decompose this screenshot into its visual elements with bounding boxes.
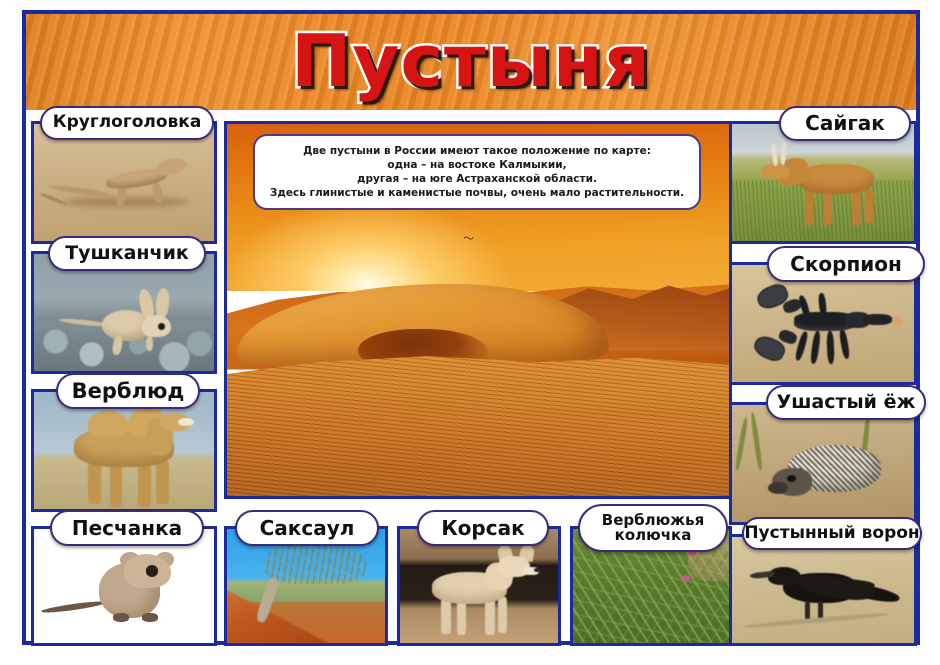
label-saygak: Сайгак xyxy=(779,106,911,141)
saiga-body xyxy=(798,164,874,194)
camel-leg-2 xyxy=(110,460,123,507)
label-skorpion: Скорпион xyxy=(767,246,925,282)
grass-blade-2 xyxy=(750,412,764,471)
corsac-leg-1 xyxy=(441,597,450,633)
saiga-leg-4 xyxy=(865,190,874,224)
corsac-photo xyxy=(400,529,558,643)
saiga-leg-1 xyxy=(805,190,814,225)
info-line-2: одна – на востоке Калмыкии, xyxy=(265,158,689,172)
saiga-photo xyxy=(732,124,914,241)
label-tushkanchik: Тушканчик xyxy=(48,236,206,271)
lizard-shadow xyxy=(63,197,189,208)
lizard-tail-tip xyxy=(40,191,68,205)
scorpion-stinger xyxy=(892,316,903,327)
center-photo-panel: 〜 Две пустыни в России имеют такое полож… xyxy=(224,121,732,499)
label-verblyuzhya-kolyuchka: Верблюжья колючка xyxy=(578,504,728,552)
gerbil-foot-right xyxy=(142,613,158,622)
saiga-leg-2 xyxy=(823,190,832,225)
label-krugloholovka: Круглоголовка xyxy=(40,106,214,140)
info-line-3: другая – на юге Астраханской области. xyxy=(265,172,689,186)
label-line-2: колючка xyxy=(615,528,692,543)
jerboa-photo xyxy=(34,254,214,371)
camel-muzzle xyxy=(178,418,194,426)
label-peschanka: Песчанка xyxy=(50,510,204,546)
corsac-leg-4 xyxy=(498,597,507,632)
gerbil-photo xyxy=(34,529,214,643)
distant-plain xyxy=(227,581,385,602)
label-korsak: Корсак xyxy=(417,510,549,546)
corsac-nose xyxy=(534,568,540,573)
jerboa-head xyxy=(142,315,171,337)
perch-branch xyxy=(743,611,889,629)
card-raven xyxy=(729,534,917,646)
camel-leg-1 xyxy=(88,460,101,504)
saiga-head xyxy=(761,164,790,179)
camel-leg-4 xyxy=(156,460,169,504)
saiga-horn-left xyxy=(771,143,778,167)
grass-blade-1 xyxy=(735,417,750,471)
gerbil-tail xyxy=(41,600,106,615)
raven-leg-left xyxy=(805,601,810,620)
card-hedgehog xyxy=(729,402,917,525)
poster-frame: Пустыня 〜 Две пустыни в России имеют так… xyxy=(22,10,920,645)
scorpion-tail xyxy=(863,314,892,325)
camel-hump-rear xyxy=(88,411,128,437)
lizard-tail xyxy=(48,184,113,199)
flower-4 xyxy=(682,575,690,582)
toad-headed-agama-photo xyxy=(34,124,214,241)
label-pustynnyy-voron: Пустынный ворон xyxy=(742,517,922,550)
info-line-4: Здесь глинистые и каменистые почвы, очен… xyxy=(265,186,689,200)
gerbil-eye xyxy=(146,565,159,576)
jerboa-leg-front xyxy=(146,336,153,351)
info-line-1: Две пустыни в России имеют такое положен… xyxy=(265,144,689,158)
page-title: Пустыня xyxy=(26,22,916,100)
lizard-head xyxy=(155,155,189,178)
camel-photo xyxy=(34,392,214,509)
label-verblyud: Верблюд xyxy=(56,373,200,409)
bird-icon: 〜 xyxy=(463,236,477,242)
header-band: Пустыня xyxy=(26,14,916,110)
raven-photo xyxy=(732,537,914,643)
info-text-box: Две пустыни в России имеют такое положен… xyxy=(253,134,701,210)
label-ushastyy-yozh: Ушастый ёж xyxy=(766,385,926,420)
saxaul-photo xyxy=(227,529,385,643)
scorpion-photo xyxy=(732,265,914,382)
hedgehog-eye xyxy=(787,475,796,482)
gerbil-foot-left xyxy=(113,613,129,622)
scorpion-leg-4 xyxy=(839,329,851,360)
saiga-leg-3 xyxy=(852,190,861,225)
scorpion-leg-2 xyxy=(810,330,822,363)
camel-leg-3 xyxy=(138,460,151,507)
saxaul-crown xyxy=(265,543,366,584)
hedgehog-photo xyxy=(732,405,914,522)
label-saksaul: Саксаул xyxy=(235,510,379,546)
rippled-sand-floor xyxy=(227,347,729,496)
scorpion-leg-3 xyxy=(826,330,834,363)
